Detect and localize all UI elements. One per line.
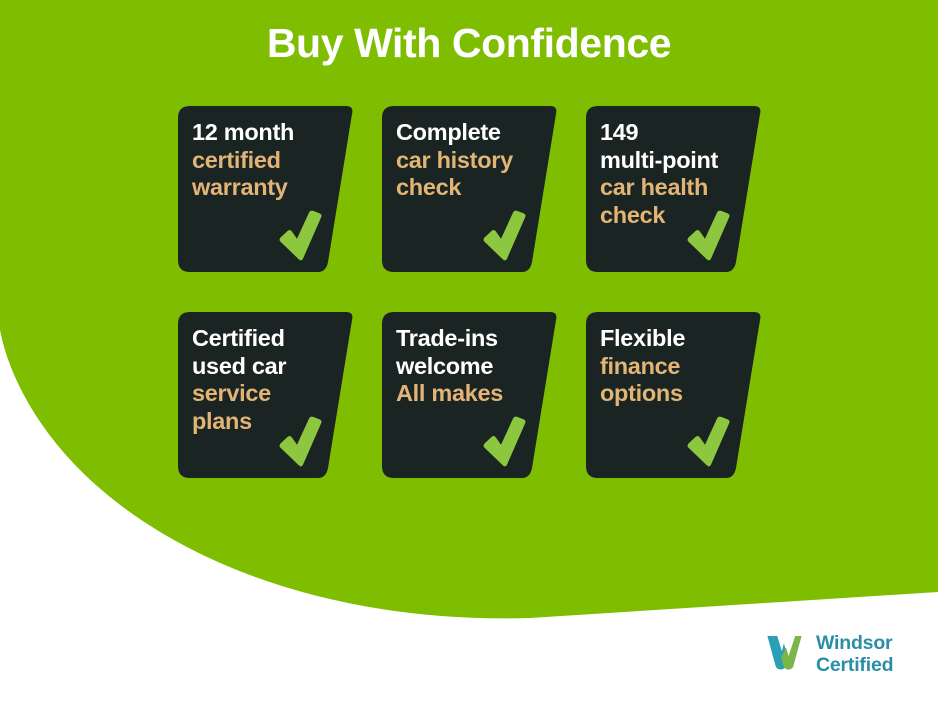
logo-wordmark: Windsor Certified xyxy=(816,632,893,676)
logo-line-2: Certified xyxy=(816,654,893,676)
feature-card-multi-point-health-check[interactable]: 149multi-pointcar healthcheck xyxy=(586,106,762,272)
card-line: welcome xyxy=(396,353,542,381)
card-line: 149 xyxy=(600,119,746,147)
card-line: service xyxy=(192,380,338,408)
card-text: 12 monthcertifiedwarranty xyxy=(192,119,338,202)
card-line: Flexible xyxy=(600,325,746,353)
card-line: check xyxy=(396,174,542,202)
card-line: 12 month xyxy=(192,119,338,147)
feature-card-service-plans[interactable]: Certifiedused carserviceplans xyxy=(178,312,354,478)
slide-canvas: Buy With Confidence 12 monthcertifiedwar… xyxy=(0,0,938,704)
check-icon xyxy=(482,210,526,262)
feature-card-flexible-finance[interactable]: Flexiblefinanceoptions xyxy=(586,312,762,478)
card-line: certified xyxy=(192,147,338,175)
check-icon xyxy=(482,416,526,468)
check-icon xyxy=(686,416,730,468)
check-icon xyxy=(278,210,322,262)
feature-card-trade-ins[interactable]: Trade-inswelcomeAll makes xyxy=(382,312,558,478)
card-line: finance xyxy=(600,353,746,381)
card-line: Complete xyxy=(396,119,542,147)
feature-card-grid: 12 monthcertifiedwarrantyCompletecar his… xyxy=(178,106,758,478)
card-line: Certified xyxy=(192,325,338,353)
brand-logo: Windsor Certified xyxy=(762,626,922,682)
card-line: warranty xyxy=(192,174,338,202)
page-title: Buy With Confidence xyxy=(0,19,938,67)
card-text: Trade-inswelcomeAll makes xyxy=(396,325,542,408)
card-text: Completecar historycheck xyxy=(396,119,542,202)
card-line: Trade-ins xyxy=(396,325,542,353)
feature-card-car-history-check[interactable]: Completecar historycheck xyxy=(382,106,558,272)
feature-card-certified-warranty[interactable]: 12 monthcertifiedwarranty xyxy=(178,106,354,272)
card-line: car history xyxy=(396,147,542,175)
logo-line-1: Windsor xyxy=(816,632,893,654)
windsor-w-icon xyxy=(762,633,808,675)
card-line: used car xyxy=(192,353,338,381)
card-line: options xyxy=(600,380,746,408)
card-line: car health xyxy=(600,174,746,202)
card-line: multi-point xyxy=(600,147,746,175)
check-icon xyxy=(686,210,730,262)
card-text: Flexiblefinanceoptions xyxy=(600,325,746,408)
card-line: All makes xyxy=(396,380,542,408)
check-icon xyxy=(278,416,322,468)
